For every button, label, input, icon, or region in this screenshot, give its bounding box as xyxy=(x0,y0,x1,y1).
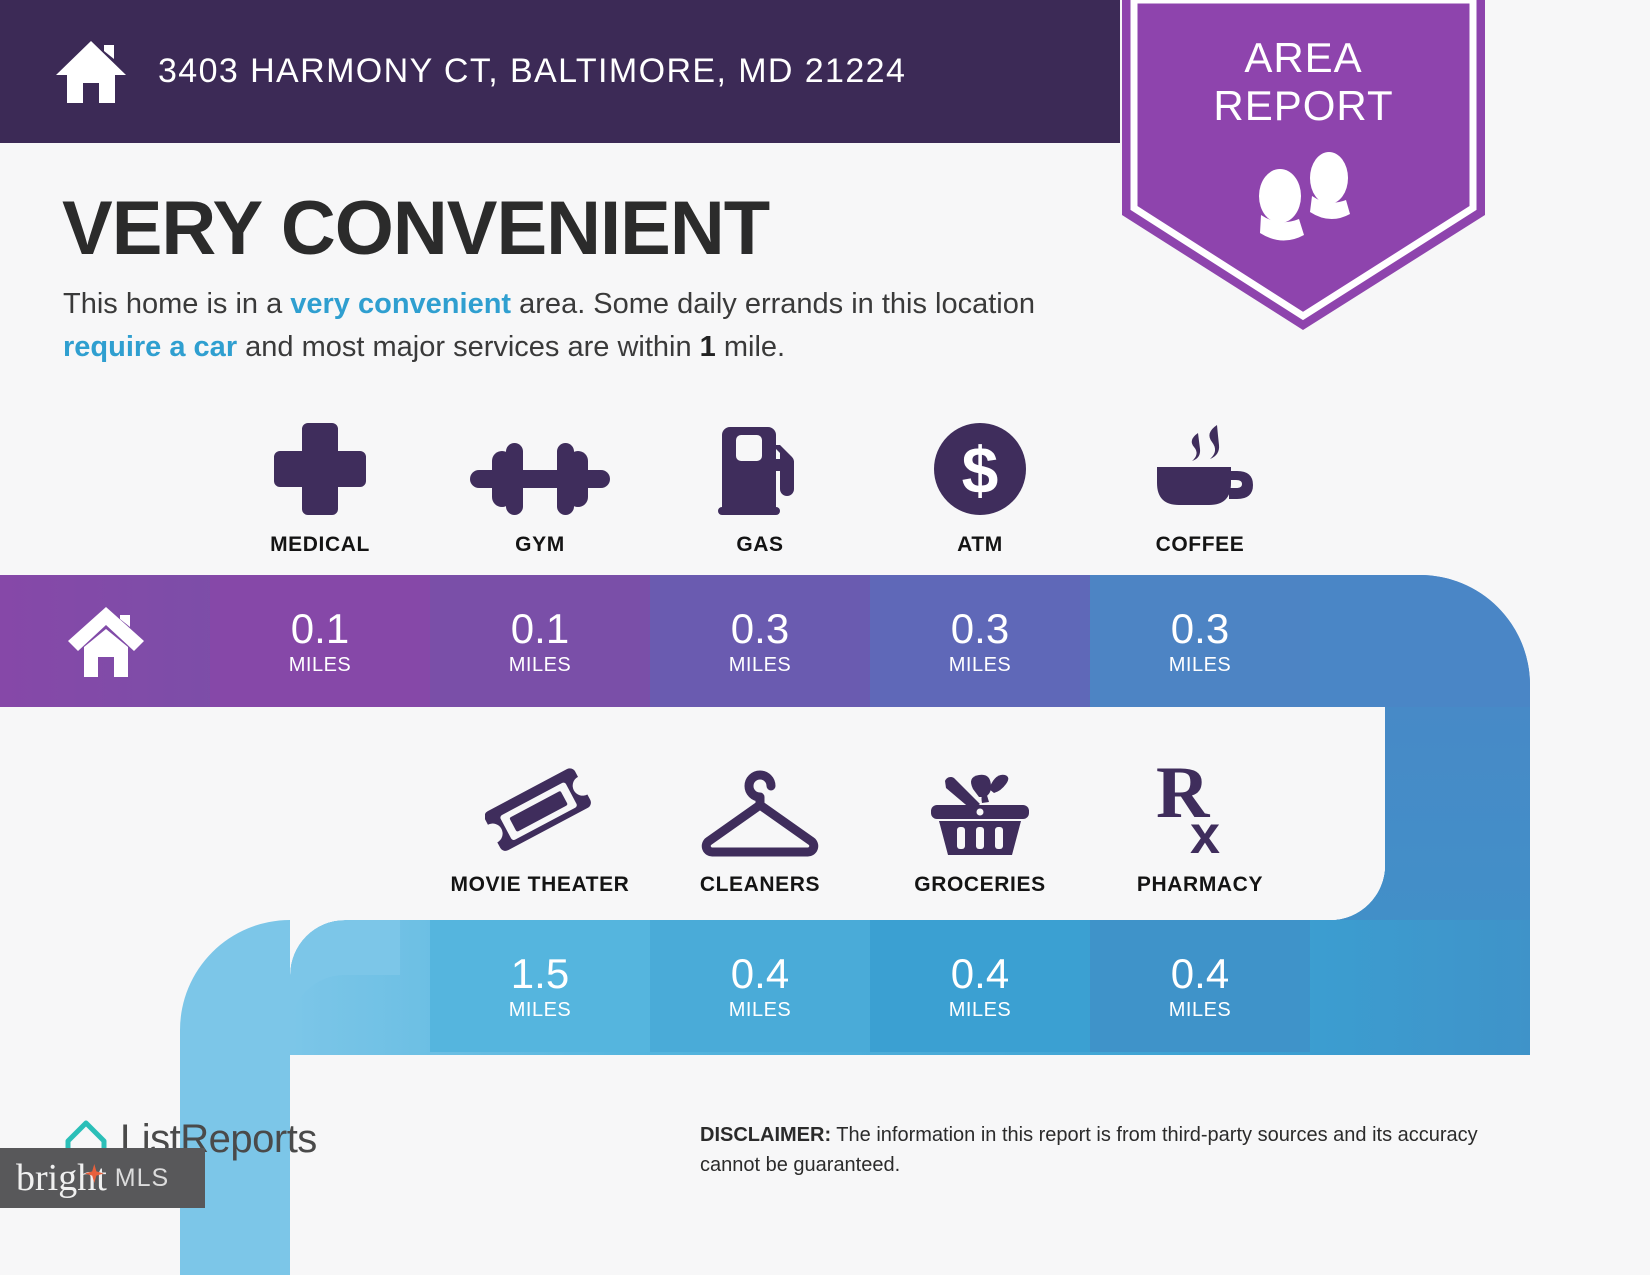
badge-line-2: REPORT xyxy=(1122,82,1485,130)
disclaimer: DISCLAIMER: The information in this repo… xyxy=(700,1120,1510,1180)
summary-part-3: and most major services are within xyxy=(237,331,700,363)
summary-part-1: This home is in a xyxy=(63,288,290,320)
distance-unit: MILES xyxy=(729,999,792,1022)
amenity-medical: MEDICAL xyxy=(210,415,430,557)
header-bar: 3403 HARMONY CT, BALTIMORE, MD 21224 xyxy=(0,0,1120,143)
distance-cell-groceries: 0.4 MILES xyxy=(870,920,1090,1052)
grocery-basket-icon xyxy=(925,755,1035,859)
amenity-icon-row-1: MEDICAL GYM GAS xyxy=(210,415,1310,557)
bright-wordmark: bright xyxy=(16,1156,107,1200)
summary-part-2: area. Some daily errands in this locatio… xyxy=(511,288,1035,320)
amenity-label: MOVIE THEATER xyxy=(451,873,630,897)
distance-unit: MILES xyxy=(289,654,352,677)
amenity-gym: GYM xyxy=(430,415,650,557)
coffee-cup-icon xyxy=(1145,415,1255,519)
dumbbell-icon xyxy=(470,415,610,519)
medical-cross-icon xyxy=(270,415,370,519)
amenity-groceries: GROCERIES xyxy=(870,755,1090,897)
svg-text:x: x xyxy=(1190,805,1220,859)
gas-pump-icon xyxy=(710,415,810,519)
page-title: VERY CONVENIENT xyxy=(62,185,769,272)
distance-cell-movie-theater: 1.5 MILES xyxy=(430,920,650,1052)
distance-unit: MILES xyxy=(949,654,1012,677)
amenity-label: MEDICAL xyxy=(270,533,370,557)
distance-unit: MILES xyxy=(1169,654,1232,677)
amenity-atm: $ ATM xyxy=(870,415,1090,557)
amenity-label: GYM xyxy=(515,533,565,557)
distance-cell-atm: 0.3 MILES xyxy=(870,575,1090,707)
distance-row-1: 0.1 MILES 0.1 MILES 0.3 MILES 0.3 MILES … xyxy=(210,575,1310,707)
amenity-label: PHARMACY xyxy=(1137,873,1263,897)
distance-value: 0.3 xyxy=(731,606,789,652)
amenity-coffee: COFFEE xyxy=(1090,415,1310,557)
distance-cell-gym: 0.1 MILES xyxy=(430,575,650,707)
distance-value: 0.4 xyxy=(951,951,1009,997)
property-address: 3403 HARMONY CT, BALTIMORE, MD 21224 xyxy=(158,52,906,91)
distance-cell-cleaners: 0.4 MILES xyxy=(650,920,870,1052)
amenity-label: ATM xyxy=(957,533,1003,557)
amenity-gas: GAS xyxy=(650,415,870,557)
amenity-label: GAS xyxy=(736,533,783,557)
distance-value: 0.4 xyxy=(731,951,789,997)
summary-part-4: mile. xyxy=(716,331,785,363)
distance-unit: MILES xyxy=(1169,999,1232,1022)
home-marker-cell xyxy=(0,575,212,707)
summary-highlight-3: 1 xyxy=(700,331,716,363)
summary-description: This home is in a very convenient area. … xyxy=(63,283,1108,369)
distance-row-2: 1.5 MILES 0.4 MILES 0.4 MILES 0.4 MILES xyxy=(430,920,1310,1052)
badge-text: AREA REPORT xyxy=(1122,34,1485,130)
distance-value: 0.1 xyxy=(291,606,349,652)
distance-value: 0.3 xyxy=(951,606,1009,652)
summary-highlight-1: very convenient xyxy=(290,288,511,320)
badge-line-1: AREA xyxy=(1122,34,1485,82)
amenity-label: CLEANERS xyxy=(700,873,820,897)
distance-unit: MILES xyxy=(729,654,792,677)
distance-unit: MILES xyxy=(509,654,572,677)
distance-value: 0.3 xyxy=(1171,606,1229,652)
home-icon xyxy=(52,37,130,107)
distance-cell-pharmacy: 0.4 MILES xyxy=(1090,920,1310,1052)
disclaimer-label: DISCLAIMER: xyxy=(700,1124,831,1146)
distance-value: 1.5 xyxy=(511,951,569,997)
area-report-badge: AREA REPORT xyxy=(1122,0,1485,330)
bright-mls-watermark: bright MLS xyxy=(0,1148,205,1208)
svg-text:$: $ xyxy=(962,433,999,507)
clothes-hanger-icon xyxy=(695,755,825,859)
movie-ticket-icon xyxy=(485,755,595,859)
distance-cell-gas: 0.3 MILES xyxy=(650,575,870,707)
distance-cell-coffee: 0.3 MILES xyxy=(1090,575,1310,707)
distance-unit: MILES xyxy=(949,999,1012,1022)
amenity-movie-theater: MOVIE THEATER xyxy=(430,755,650,897)
amenity-label: GROCERIES xyxy=(914,873,1045,897)
dollar-circle-icon: $ xyxy=(930,415,1030,519)
amenity-icon-row-2: MOVIE THEATER CLEANERS xyxy=(430,755,1310,897)
distance-value: 0.4 xyxy=(1171,951,1229,997)
amenity-cleaners: CLEANERS xyxy=(650,755,870,897)
amenity-label: COFFEE xyxy=(1156,533,1245,557)
distance-cell-medical: 0.1 MILES xyxy=(210,575,430,707)
distance-value: 0.1 xyxy=(511,606,569,652)
pharmacy-rx-icon: R x xyxy=(1150,755,1250,859)
summary-highlight-2: require a car xyxy=(63,331,237,363)
distance-unit: MILES xyxy=(509,999,572,1022)
mls-text: MLS xyxy=(115,1164,169,1193)
amenity-pharmacy: R x PHARMACY xyxy=(1090,755,1310,897)
